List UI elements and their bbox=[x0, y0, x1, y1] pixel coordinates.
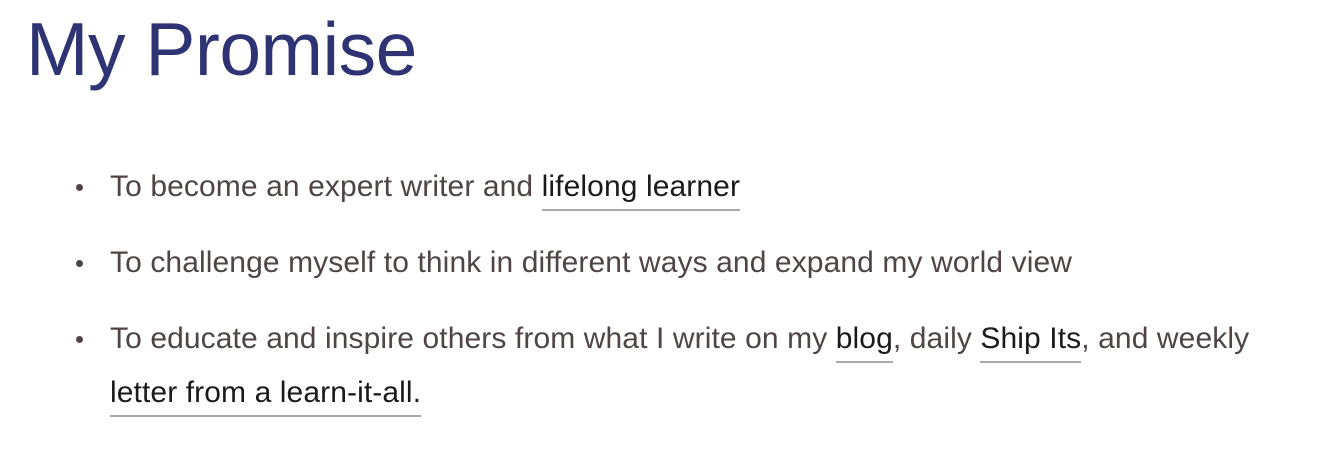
promise-link[interactable]: blog bbox=[836, 322, 893, 363]
promise-link[interactable]: letter from a learn-it-all. bbox=[110, 376, 421, 417]
promise-link[interactable]: lifelong learner bbox=[542, 170, 740, 211]
promise-link[interactable]: Ship Its bbox=[980, 322, 1081, 363]
promise-text: To educate and inspire others from what … bbox=[110, 322, 1249, 417]
promise-page: My Promise To become an expert writer an… bbox=[0, 0, 1320, 476]
promise-text-run: , daily bbox=[893, 322, 981, 355]
promise-text-run: To become an expert writer and bbox=[110, 170, 542, 203]
promise-text: To challenge myself to think in differen… bbox=[110, 246, 1072, 279]
list-item: To challenge myself to think in differen… bbox=[70, 236, 1285, 290]
promise-text: To become an expert writer and lifelong … bbox=[110, 170, 740, 211]
list-item: To become an expert writer and lifelong … bbox=[70, 160, 1285, 214]
promise-text-run: , and weekly bbox=[1081, 322, 1249, 355]
promise-text-run: To challenge myself to think in differen… bbox=[110, 246, 1072, 279]
promise-text-run: To educate and inspire others from what … bbox=[110, 322, 836, 355]
list-item: To educate and inspire others from what … bbox=[70, 312, 1285, 420]
promise-list: To become an expert writer and lifelong … bbox=[70, 160, 1285, 420]
bullet-marker-icon bbox=[76, 184, 83, 191]
bullet-marker-icon bbox=[76, 260, 83, 267]
page-title: My Promise bbox=[26, 6, 417, 92]
bullet-marker-icon bbox=[76, 336, 83, 343]
